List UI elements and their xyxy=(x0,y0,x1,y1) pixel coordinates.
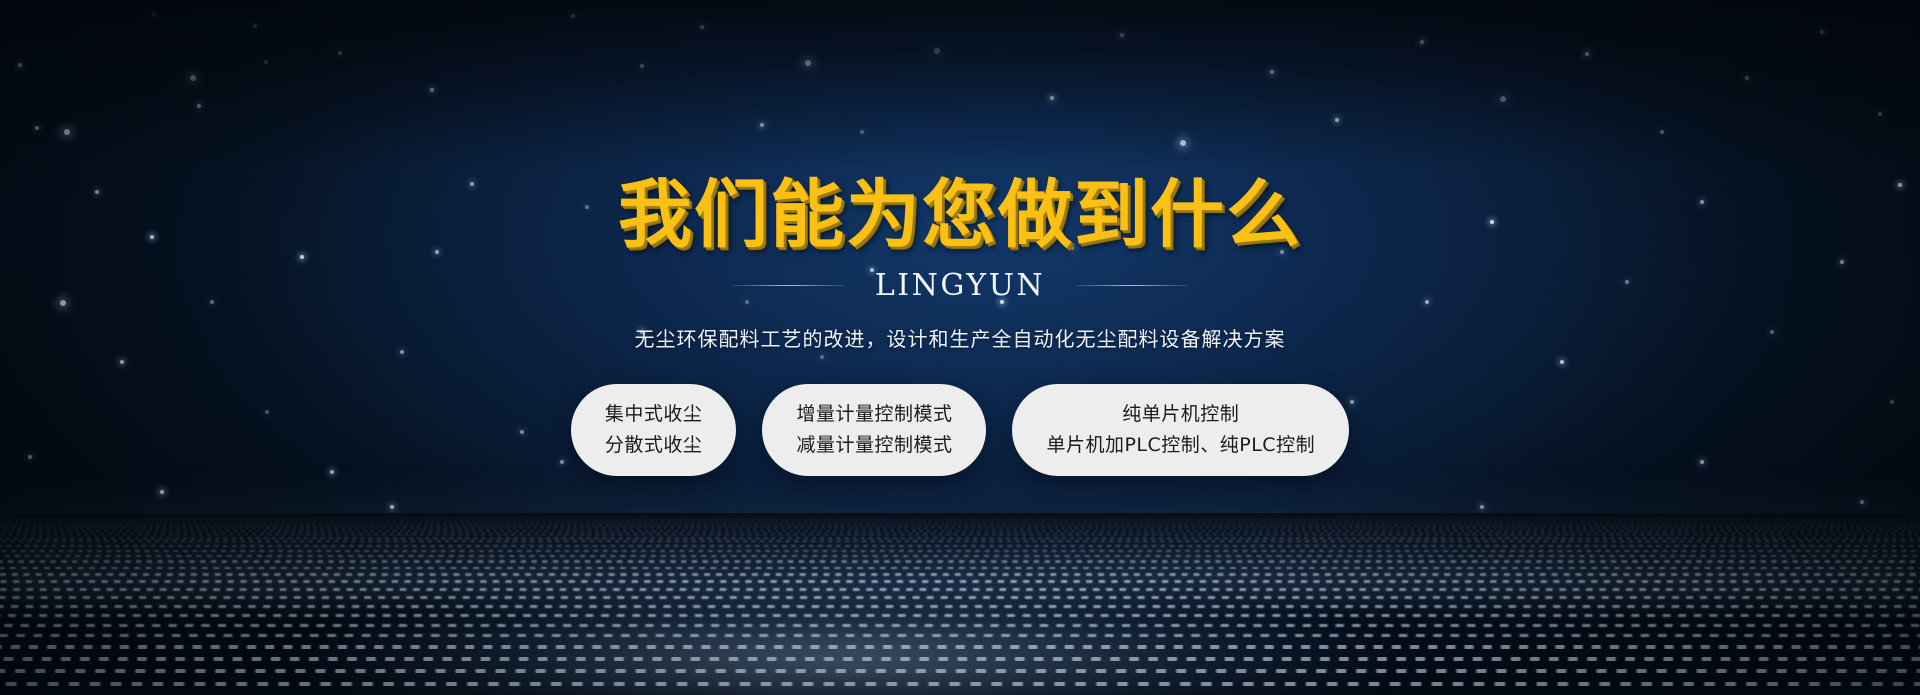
divider-left xyxy=(733,285,845,286)
brand-row: LINGYUN xyxy=(733,268,1187,303)
feature-card[interactable]: 集中式收尘 分散式收尘 xyxy=(571,384,737,476)
page-title: 我们能为您做到什么 xyxy=(618,178,1302,252)
feature-card-list: 集中式收尘 分散式收尘 增量计量控制模式 减量计量控制模式 纯单片机控制 单片机… xyxy=(571,384,1349,476)
feature-card-line: 单片机加PLC控制、纯PLC控制 xyxy=(1046,435,1315,456)
hero-banner: 我们能为您做到什么 LINGYUN 无尘环保配料工艺的改进，设计和生产全自动化无… xyxy=(0,0,1920,695)
feature-card[interactable]: 增量计量控制模式 减量计量控制模式 xyxy=(762,384,986,476)
feature-card[interactable]: 纯单片机控制 单片机加PLC控制、纯PLC控制 xyxy=(1012,384,1349,476)
feature-card-line: 纯单片机控制 xyxy=(1122,404,1239,425)
hero-content: 我们能为您做到什么 LINGYUN 无尘环保配料工艺的改进，设计和生产全自动化无… xyxy=(0,0,1920,695)
feature-card-line: 减量计量控制模式 xyxy=(796,435,952,456)
page-subtitle: 无尘环保配料工艺的改进，设计和生产全自动化无尘配料设备解决方案 xyxy=(635,323,1286,352)
brand-name: LINGYUN xyxy=(875,268,1045,303)
divider-right xyxy=(1075,285,1187,286)
feature-card-line: 增量计量控制模式 xyxy=(796,404,952,425)
feature-card-line: 分散式收尘 xyxy=(605,435,703,456)
feature-card-line: 集中式收尘 xyxy=(605,404,703,425)
